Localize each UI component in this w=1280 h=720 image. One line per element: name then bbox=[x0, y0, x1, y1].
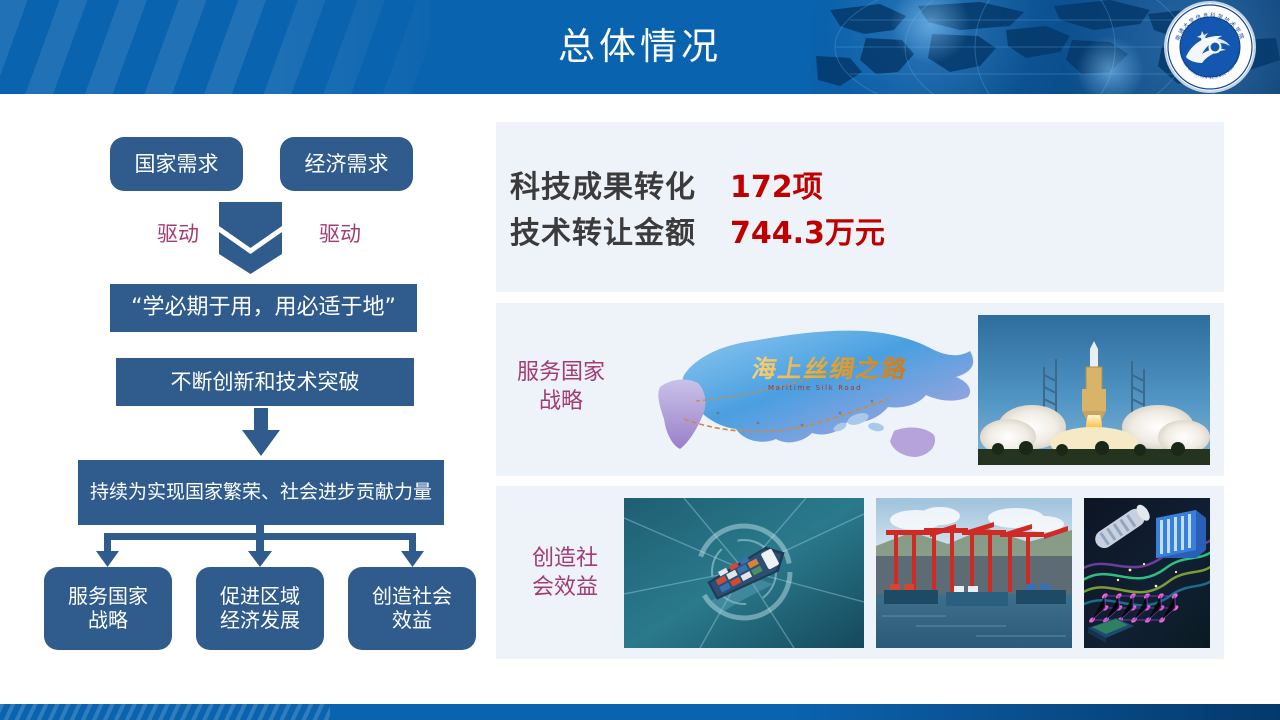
stat-value-achievement-transfer: 172项 bbox=[730, 162, 823, 206]
flow-node-goal[interactable]: 持续为实现国家繁荣、社会进步贡献力量 bbox=[78, 460, 444, 525]
port-cranes-image bbox=[876, 498, 1072, 648]
stat-label-achievement-transfer: 科技成果转化 bbox=[510, 162, 730, 206]
flow-node-national-demand[interactable]: 国家需求 bbox=[110, 137, 243, 191]
flow-node-outcome-regional-economy[interactable]: 促进区域 经济发展 bbox=[196, 567, 324, 650]
footer-stripe-pattern bbox=[0, 704, 330, 720]
flow-node-motto[interactable]: “学必期于用，用必适于地” bbox=[110, 284, 417, 332]
outcome-3-line1: 创造社会 bbox=[372, 584, 452, 608]
maritime-silk-road-map-image: 海上丝绸之路 Maritime Silk Road bbox=[626, 315, 1006, 465]
arrow-down-icon bbox=[242, 408, 280, 456]
flow-node-innovation[interactable]: 不断创新和技术突破 bbox=[116, 358, 414, 406]
outcome-1-line1: 服务国家 bbox=[68, 584, 148, 608]
social-label-line1: 创造社 bbox=[532, 546, 598, 571]
flow-node-outcome-social-benefit[interactable]: 创造社会 效益 bbox=[348, 567, 476, 650]
stats-rows: 科技成果转化 172项 技术转让金额 744.3万元 bbox=[510, 162, 885, 254]
container-ship-aerial-image bbox=[624, 498, 864, 648]
stat-row-achievement-transfer: 科技成果转化 172项 bbox=[510, 162, 885, 208]
edge-label-drive-left: 驱动 bbox=[143, 218, 213, 248]
panel-label-social-benefit: 创造社 会效益 bbox=[510, 544, 620, 602]
panel-label-line1: 服务国家 bbox=[517, 360, 605, 385]
strategy-flowchart: 国家需求 经济需求 驱动 驱动 “学必期于用，用必适于地” 不断创新和技术突破 … bbox=[0, 94, 480, 694]
outcome-2-line2: 经济发展 bbox=[220, 608, 300, 632]
stat-label-transfer-amount: 技术转让金额 bbox=[510, 208, 730, 252]
slide-title: 总体情况 bbox=[0, 24, 1280, 70]
flow-node-outcome-national-strategy[interactable]: 服务国家 战略 bbox=[44, 567, 172, 650]
edge-label-drive-right: 驱动 bbox=[305, 218, 375, 248]
rocket-launch-image bbox=[978, 315, 1210, 465]
nanomaterial-science-illustration-image bbox=[1084, 498, 1210, 648]
national-strategy-panel: 服务国家 战略 bbox=[496, 303, 1224, 476]
svg-text:海上丝绸之路: 海上丝绸之路 bbox=[750, 355, 911, 383]
university-logo: 南通大学信息科学技术学院 SCHOOL OF INFORMATION SCIEN… bbox=[1166, 3, 1254, 91]
social-benefit-panel: 创造社 会效益 bbox=[496, 486, 1224, 659]
stats-panel: 科技成果转化 172项 技术转让金额 744.3万元 bbox=[496, 122, 1224, 292]
stat-row-transfer-amount: 技术转让金额 744.3万元 bbox=[510, 208, 885, 254]
outcome-1-line2: 战略 bbox=[88, 608, 128, 632]
social-label-line2: 会效益 bbox=[532, 575, 598, 600]
panel-label-line2: 战略 bbox=[539, 389, 583, 414]
outcome-2-line1: 促进区域 bbox=[220, 584, 300, 608]
double-chevron-down-icon bbox=[219, 202, 282, 274]
svg-text:Maritime Silk Road: Maritime Silk Road bbox=[768, 384, 862, 392]
panel-label-national-strategy: 服务国家 战略 bbox=[506, 358, 616, 416]
flow-node-economic-demand[interactable]: 经济需求 bbox=[280, 137, 413, 191]
stat-value-transfer-amount: 744.3万元 bbox=[730, 208, 885, 252]
outcome-3-line2: 效益 bbox=[392, 608, 432, 632]
branch-connector-arrows bbox=[44, 525, 476, 571]
slide-footer bbox=[0, 704, 1280, 720]
slide-header: 总体情况 南通大学信息科学技术学院 SCHOOL OF INFORMATION … bbox=[0, 0, 1280, 94]
